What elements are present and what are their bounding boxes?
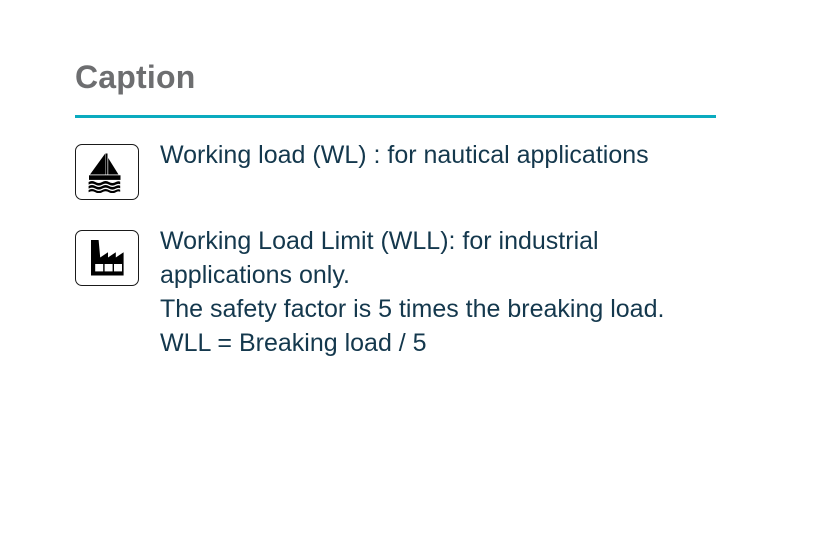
list-item: Working load (WL) : for nautical applica…: [75, 138, 720, 200]
list-item: Working Load Limit (WLL): for industrial…: [75, 224, 720, 360]
sailboat-icon: [75, 144, 139, 200]
list-item-label: Working load (WL) : for nautical applica…: [160, 138, 649, 172]
page-title: Caption: [75, 60, 720, 95]
factory-icon: [75, 230, 139, 286]
list-item-label: Working Load Limit (WLL): for industrial…: [160, 224, 680, 360]
caption-panel: Caption: [75, 60, 720, 384]
caption-list: Working load (WL) : for nautical applica…: [75, 138, 720, 360]
title-divider: [75, 115, 716, 118]
